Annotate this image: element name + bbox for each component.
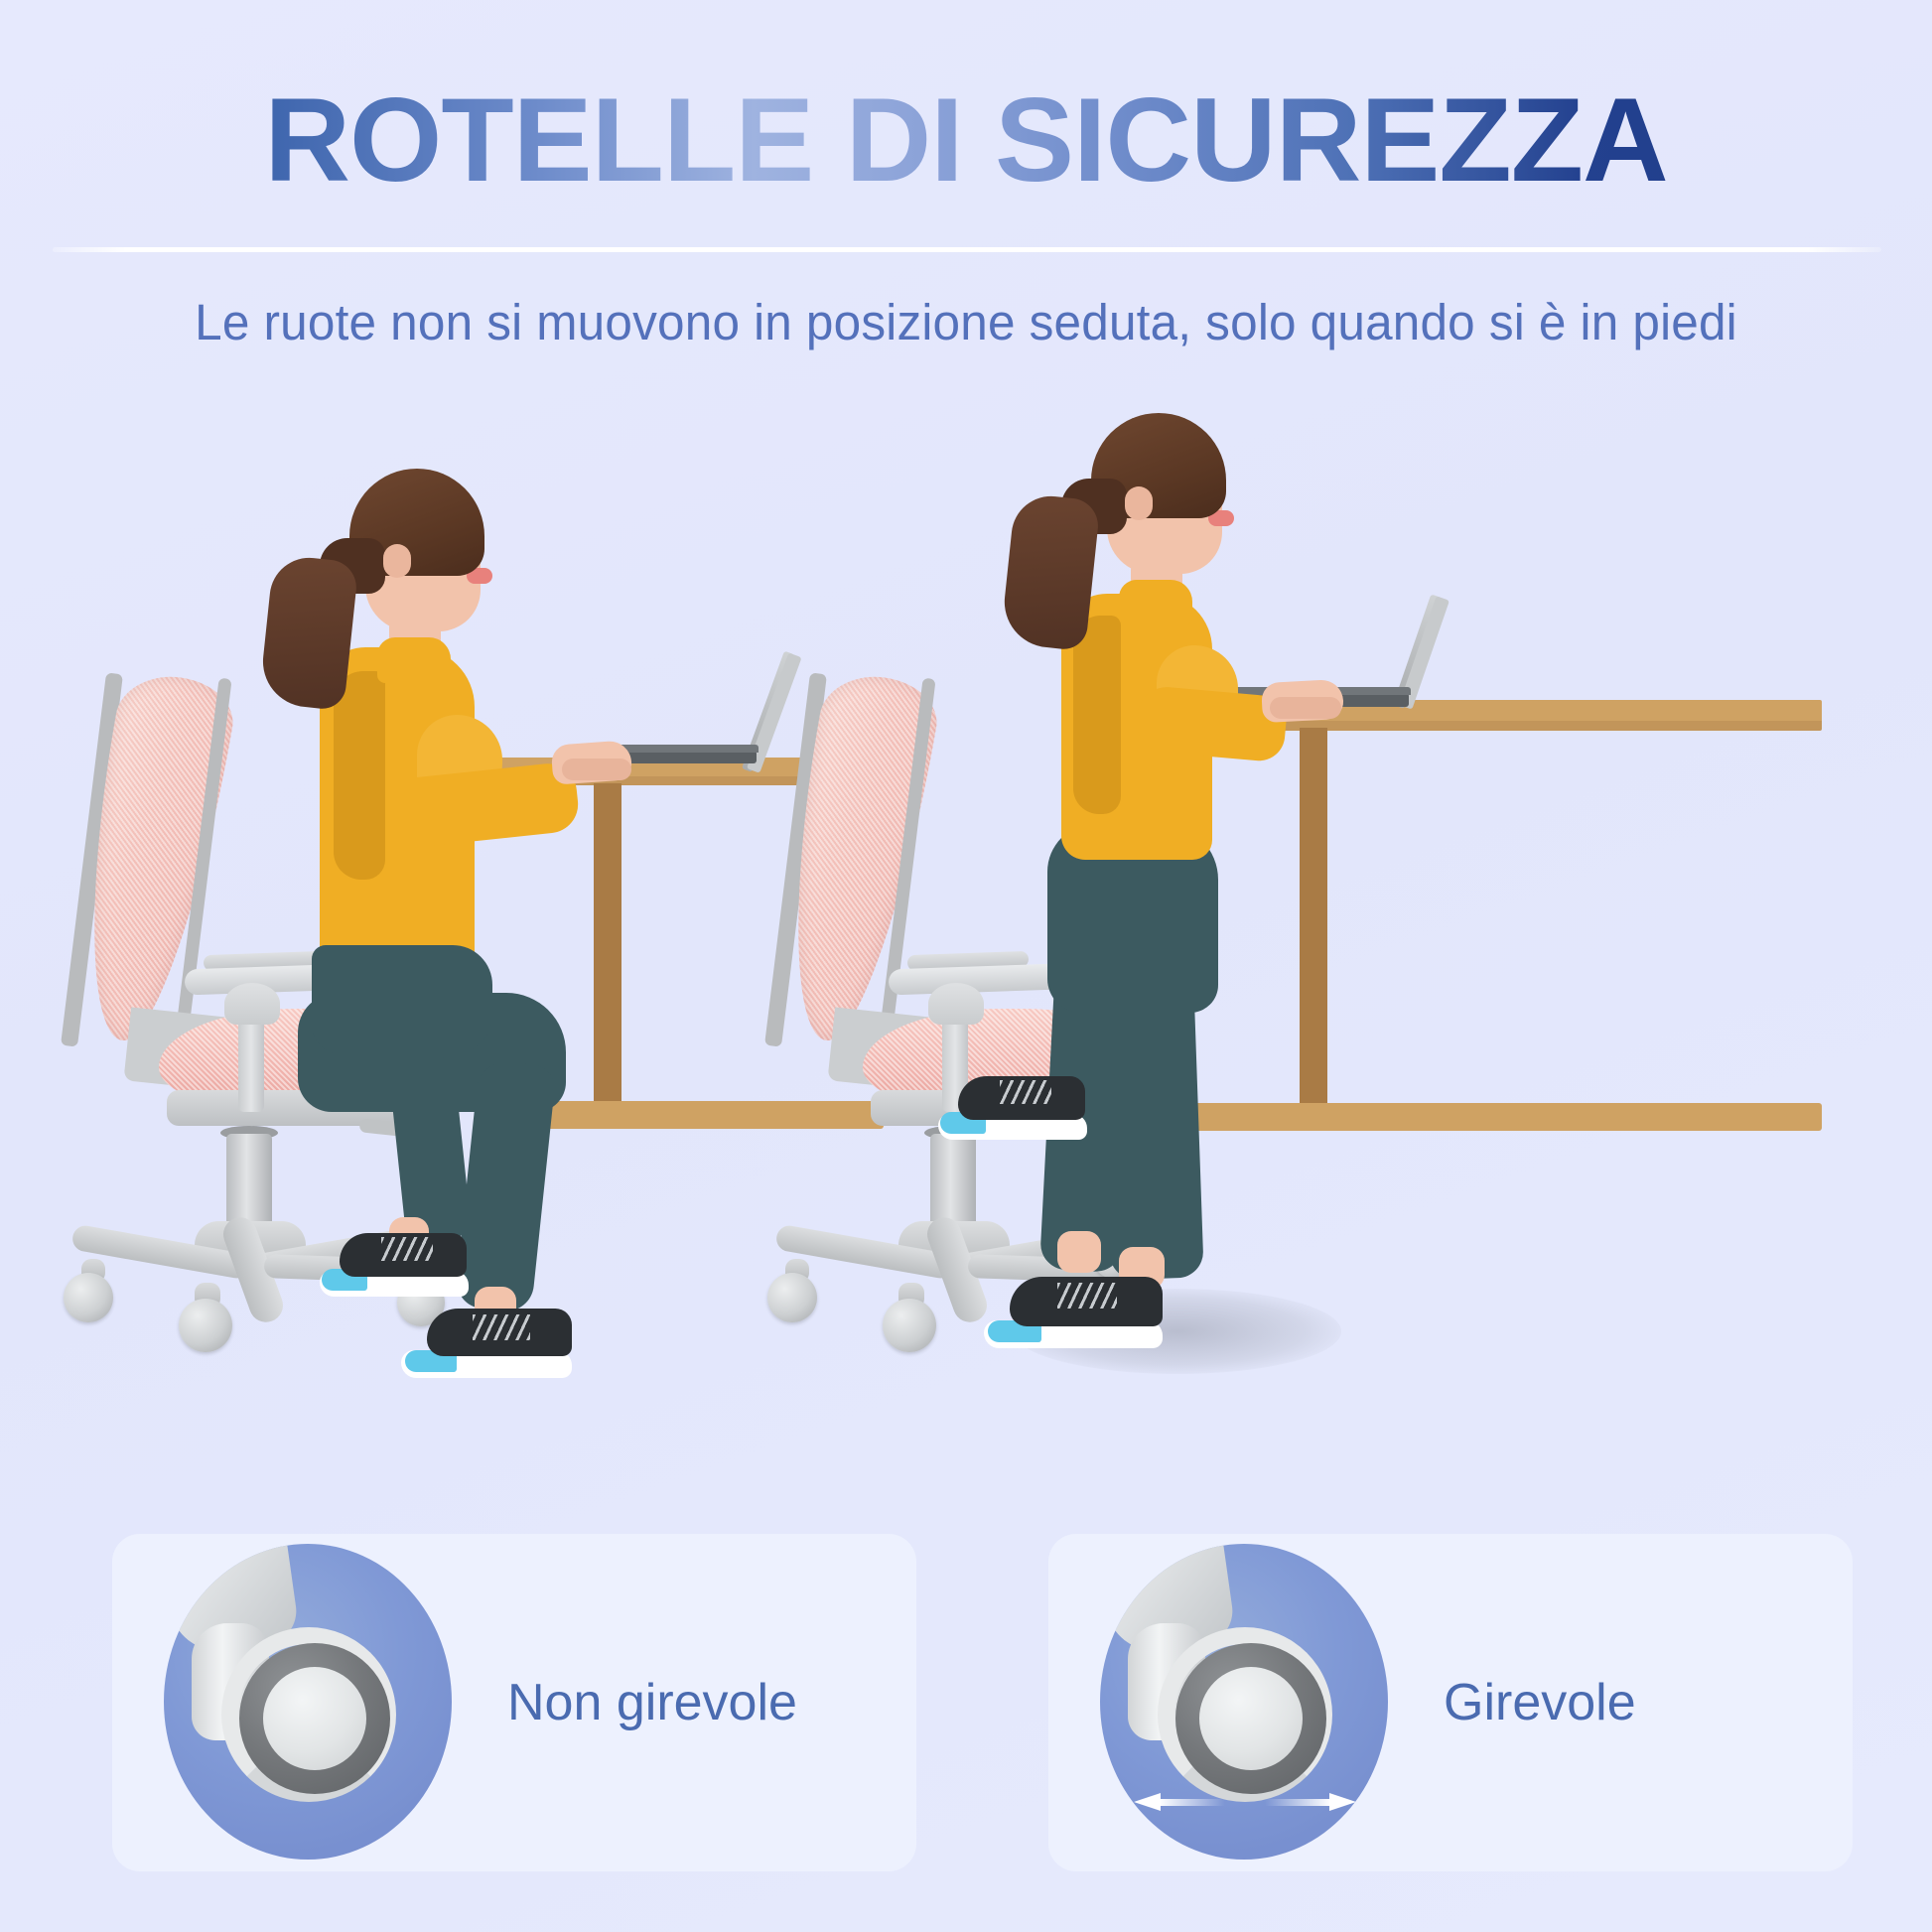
- page-title: ROTELLE DI SICUREZZA: [0, 77, 1932, 203]
- card-non-swivel[interactable]: Non girevole: [112, 1534, 916, 1871]
- caster-wheel-left-standing: [767, 1273, 817, 1322]
- shoe-back-standing: [938, 1070, 1087, 1140]
- caster-hub: [263, 1667, 366, 1770]
- arrow-right-icon: [1265, 1793, 1356, 1811]
- caster-wheel-front-standing: [883, 1299, 936, 1352]
- card-label-swivel: Girevole: [1444, 1673, 1636, 1732]
- caster-hub-swivel: [1199, 1667, 1303, 1770]
- seated-turtleneck-collar: [377, 637, 451, 683]
- standing-ankle-back: [1057, 1231, 1101, 1273]
- caster-wheel-swivel-icon: [1100, 1544, 1388, 1860]
- desk-leg-standing: [1300, 728, 1327, 1113]
- chair-armrest-post-flare: [224, 983, 280, 1025]
- shoe-front: [401, 1305, 572, 1378]
- arrow-left-icon: [1134, 1793, 1225, 1811]
- seated-hip-skirt: [312, 945, 492, 1054]
- standing-ear: [1125, 486, 1153, 520]
- seated-sleeve-shade: [334, 671, 385, 880]
- card-label-non-swivel: Non girevole: [507, 1673, 797, 1732]
- standing-hair-ponytail: [1000, 492, 1100, 651]
- illustration-scene: [0, 427, 1932, 1459]
- caster-wheel-left: [64, 1273, 113, 1322]
- shoe-front-standing: [984, 1273, 1163, 1348]
- caster-wheel-front: [179, 1299, 232, 1352]
- title-divider: [53, 247, 1881, 252]
- page-subtitle: Le ruote non si muovono in posizione sed…: [29, 293, 1903, 351]
- chair-armrest-post-flare-standing: [928, 983, 984, 1025]
- standing-sleeve-shade: [1073, 616, 1121, 814]
- standing-turtleneck-collar: [1119, 580, 1192, 625]
- seated-ear: [383, 544, 411, 578]
- desk-foot-standing: [1186, 1103, 1822, 1131]
- seated-hand-fingers: [562, 759, 631, 780]
- infographic-root: ROTELLE DI SICUREZZA Le ruote non si muo…: [0, 0, 1932, 1932]
- caster-legend: Non girevole Girevole: [0, 1534, 1932, 1901]
- desk-leg: [594, 783, 621, 1111]
- swivel-arrows: [1134, 1790, 1356, 1816]
- standing-hand-fingers: [1270, 697, 1341, 719]
- standing-illustration: [966, 427, 1932, 1459]
- caster-wheel-locked-icon: [164, 1544, 452, 1860]
- seated-hair-ponytail: [258, 554, 358, 711]
- shoe-back: [320, 1227, 469, 1297]
- card-swivel[interactable]: Girevole: [1048, 1534, 1853, 1871]
